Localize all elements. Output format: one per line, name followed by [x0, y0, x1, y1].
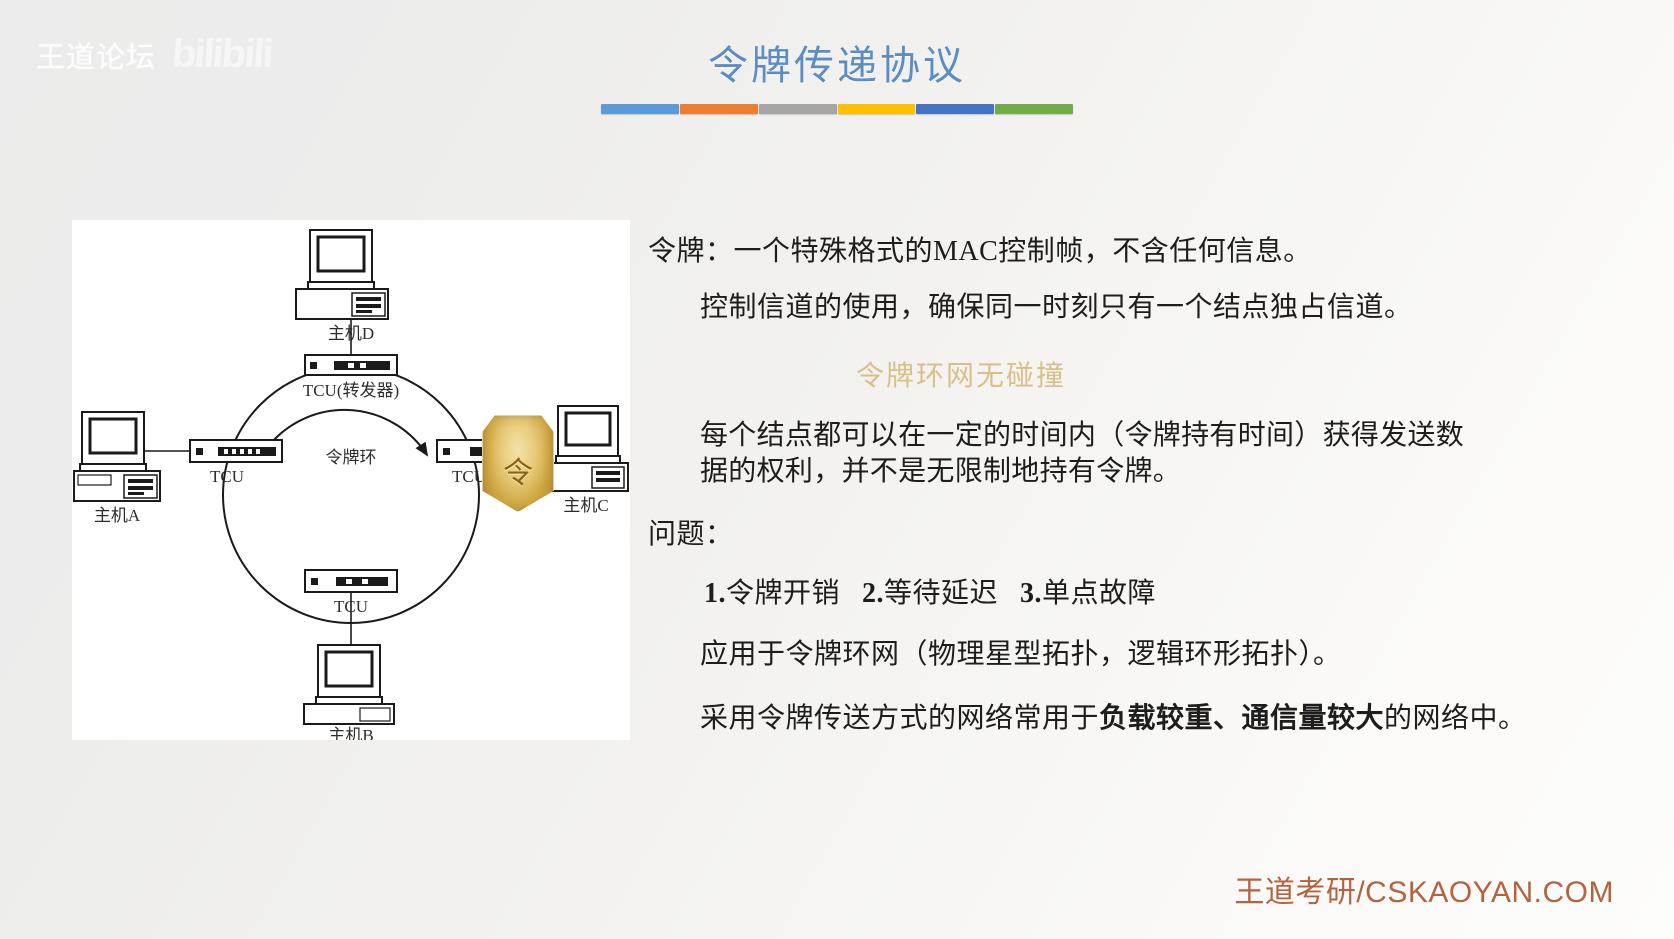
problem-1-number: 1.	[704, 578, 726, 609]
problems-list: 1.令牌开销2.等待延迟3.单点故障	[648, 571, 1608, 611]
rule-segment-4	[838, 104, 916, 114]
tcu-left-label: TCU	[210, 467, 244, 486]
tcu-bottom-group: TCU	[305, 570, 397, 645]
title-color-rule	[601, 104, 1073, 114]
page-title: 令牌传递协议	[0, 44, 1674, 88]
definition-label: 令牌：	[648, 236, 734, 267]
problem-2-text: 等待延迟	[884, 578, 998, 609]
holding-time-line-1: 每个结点都可以在一定的时间内（令牌持有时间）获得发送数	[700, 418, 1608, 455]
definition-line-2: 控制信道的使用，确保同一时刻只有一个结点独占信道。	[648, 288, 1608, 328]
problem-2-number: 2.	[862, 578, 884, 609]
problem-3-text: 单点故障	[1042, 578, 1156, 609]
token-coin-glyph: 令	[503, 448, 533, 492]
problem-item-2: 2.等待延迟	[862, 578, 998, 609]
problems-label: 问题：	[648, 515, 1608, 555]
usage-line: 采用令牌传送方式的网络常用于负载较重、通信量较大的网络中。	[648, 699, 1608, 739]
host-a-label: 主机A	[94, 506, 141, 525]
definition-text: 一个特殊格式的MAC控制帧，不含任何信息。	[734, 236, 1312, 267]
tcu-right-label: TCU	[452, 467, 486, 486]
highlight-statement: 令牌环网无碰撞	[648, 354, 1608, 394]
application-line: 应用于令牌环网（物理星型拓扑，逻辑环形拓扑）。	[648, 635, 1608, 675]
rule-segment-2	[680, 104, 758, 114]
body-content: 令牌：一个特殊格式的MAC控制帧，不含任何信息。 控制信道的使用，确保同一时刻只…	[648, 232, 1608, 739]
rule-segment-1	[601, 104, 679, 114]
problem-item-3: 3.单点故障	[1020, 578, 1156, 609]
problem-3-number: 3.	[1020, 578, 1042, 609]
footer-brand: 王道考研/CSKAOYAN.COM	[1234, 867, 1614, 911]
host-c-label: 主机C	[563, 496, 608, 515]
slide-canvas: 王道论坛 bilibili 令牌传递协议 令牌环	[0, 0, 1674, 939]
problem-item-1: 1.令牌开销	[704, 578, 840, 609]
host-a-group: 主机A	[74, 412, 190, 525]
tcu-left-group: TCU	[190, 440, 282, 486]
ring-label: 令牌环	[326, 448, 377, 467]
definition-line: 令牌：一个特殊格式的MAC控制帧，不含任何信息。	[648, 232, 1608, 272]
tcu-top-label: TCU(转发器)	[303, 381, 399, 400]
rule-segment-3	[759, 104, 837, 114]
rule-segment-5	[916, 104, 994, 114]
host-b-group: 主机B	[304, 645, 394, 740]
holding-time-paragraph: 每个结点都可以在一定的时间内（令牌持有时间）获得发送数 据的权利，并不是无限制地…	[648, 418, 1608, 492]
host-d-group: 主机D	[296, 230, 388, 355]
usage-prefix: 采用令牌传送方式的网络常用于	[700, 703, 1099, 734]
tcu-top-group: TCU(转发器)	[303, 355, 399, 400]
holding-time-line-2: 据的权利，并不是无限制地持有令牌。	[700, 454, 1608, 491]
rule-segment-6	[995, 104, 1073, 114]
usage-suffix: 的网络中。	[1384, 703, 1527, 734]
problem-1-text: 令牌开销	[726, 578, 840, 609]
usage-emphasis: 负载较重、通信量较大	[1099, 703, 1384, 734]
title-block: 令牌传递协议	[0, 44, 1674, 114]
token-ring-diagram: 令牌环 主机D	[72, 220, 630, 740]
host-b-label: 主机B	[328, 726, 373, 740]
